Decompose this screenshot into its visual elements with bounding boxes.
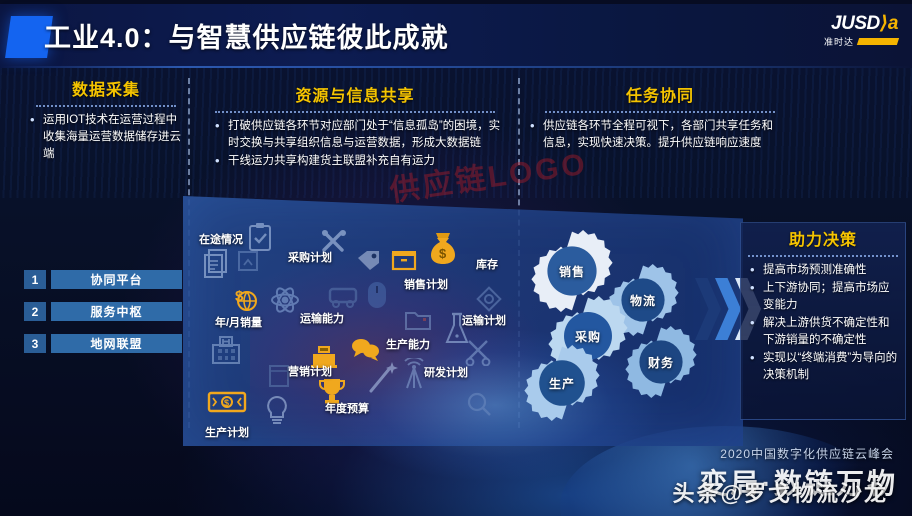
bullet-item: 干线运力共享构建货主联盟补充自有运力 (213, 153, 505, 170)
logo-yellow-bar (857, 38, 899, 45)
numbered-list: 1 协同平台 2 服务中枢 3 地网联盟 (24, 270, 182, 366)
icon-label: 销售计划 (404, 276, 448, 292)
right-panel-bullets: 提高市场预测准确性 上下游协同；提高市场应变能力 解决上游供货不确定性和下游销量… (748, 262, 900, 385)
right-panel-heading: 助力决策 (748, 226, 898, 257)
column-heading-1-text: 数据采集 (36, 76, 176, 100)
column-heading-2-rule (215, 111, 495, 113)
list-item[interactable]: 1 协同平台 (24, 270, 182, 289)
column-heading-3-text: 任务协同 (545, 82, 775, 106)
scissors-icon (464, 338, 492, 366)
bullet-item: 解决上游供货不确定性和下游销量的不确定性 (748, 315, 900, 349)
list-item-number: 1 (24, 270, 46, 289)
column-heading-1: 数据采集 (36, 76, 176, 107)
icon-label: 运输计划 (462, 312, 506, 328)
bullet-item: 运用IOT技术在运营过程中收集海量运营数据储存进云端 (28, 112, 183, 163)
folder-icon (404, 308, 432, 332)
tag-icon (356, 248, 382, 272)
column-heading-3-rule (545, 111, 775, 113)
logo-subtitle-row: 准时达 (800, 35, 898, 48)
gear-finance: 财务 (625, 326, 697, 398)
gear-label: 财务 (625, 326, 697, 398)
banknote-icon: $ (207, 390, 247, 414)
header-top-rule (0, 0, 912, 4)
column-bullets-3: 供应链各环节全程可视下，各部门共享任务和信息，实现快速决策。提升供应链响应速度 (528, 118, 778, 153)
box-icon (391, 249, 417, 271)
list-item[interactable]: 3 地网联盟 (24, 334, 182, 353)
page-title: 工业4.0：与智慧供应链彼此成就 (44, 16, 449, 55)
bullet-item: 上下游协同；提高市场应变能力 (748, 280, 900, 314)
event-subtitle: 2020中国数字化供应链云峰会 (720, 445, 894, 462)
truck-icon (328, 285, 358, 309)
money-bag-icon: $ (427, 230, 459, 266)
logo-cn-text: 准时达 (824, 35, 854, 48)
logo-text: JUSD (831, 13, 880, 34)
svg-text:$: $ (439, 246, 447, 261)
building-icon (211, 335, 241, 365)
right-panel-heading-rule (748, 255, 898, 257)
column-heading-2: 资源与信息共享 (215, 82, 495, 113)
column-bullets-2: 打破供应链各环节对应部门处于“信息孤岛”的困境，实时交换与共享组织信息与运营数据… (213, 118, 505, 171)
column-bullets-1: 运用IOT技术在运营过程中收集海量运营数据储存进云端 (28, 112, 183, 164)
icon-label: 年/月销量 (215, 314, 262, 330)
icon-label: 研发计划 (424, 364, 468, 380)
icon-label: 营销计划 (288, 363, 332, 379)
icon-label: 在途情况 (199, 231, 243, 247)
document-stack-icon (202, 248, 230, 278)
bullet-item: 打破供应链各环节对应部门处于“信息孤岛”的困境，实时交换与共享组织信息与运营数据… (213, 118, 505, 152)
right-panel-heading-text: 助力决策 (748, 226, 898, 250)
list-item-number: 2 (24, 302, 46, 321)
list-item-label: 服务中枢 (51, 302, 182, 321)
list-item-number: 3 (24, 334, 46, 353)
source-watermark: 头条@罗戈物流沙龙 (673, 476, 888, 508)
icon-label: 运输能力 (300, 310, 344, 326)
icon-label: 年度预算 (325, 400, 369, 416)
list-item-label: 协同平台 (51, 270, 182, 289)
gear-label: 生产 (524, 345, 600, 421)
list-item[interactable]: 2 服务中枢 (24, 302, 182, 321)
picture-icon (237, 250, 259, 272)
atom-icon (270, 285, 300, 315)
globe-dollar-icon: $ (233, 287, 259, 313)
search-icon (465, 390, 493, 418)
column-heading-3: 任务协同 (545, 82, 775, 113)
icon-label: 生产能力 (386, 336, 430, 352)
logo-wordmark: JUSD⟩a (800, 14, 898, 34)
icon-label: 库存 (476, 256, 498, 272)
svg-text:$: $ (224, 398, 229, 408)
bullet-item: 实现以“终端消费”为导向的决策机制 (748, 350, 900, 384)
list-item-label: 地网联盟 (51, 334, 182, 353)
chevron-right-icon (695, 278, 721, 340)
lightbulb-icon (263, 395, 291, 427)
bullet-item: 提高市场预测准确性 (748, 262, 900, 279)
svg-text:$: $ (235, 288, 244, 305)
icon-label: 生产计划 (205, 424, 249, 440)
gear-production: 生产 (524, 345, 600, 421)
magic-wand-icon (368, 360, 398, 394)
chat-bubble-icon (350, 336, 380, 362)
bullet-item: 供应链各环节全程可视下，各部门共享任务和信息，实现快速决策。提升供应链响应速度 (528, 118, 778, 152)
clipboard-check-icon (247, 222, 273, 252)
diamond-icon (475, 285, 503, 313)
icon-label: 采购计划 (288, 249, 332, 265)
column-heading-2-text: 资源与信息共享 (215, 82, 495, 106)
mouse-icon (365, 280, 389, 310)
logo-chevron-icon: ⟩a (880, 13, 898, 34)
column-heading-1-rule (36, 105, 176, 107)
slide-root: 工业4.0：与智慧供应链彼此成就 JUSD⟩a 准时达 数据采集 运用IOT技术… (0, 0, 912, 516)
jusda-logo: JUSD⟩a 准时达 (800, 14, 898, 54)
